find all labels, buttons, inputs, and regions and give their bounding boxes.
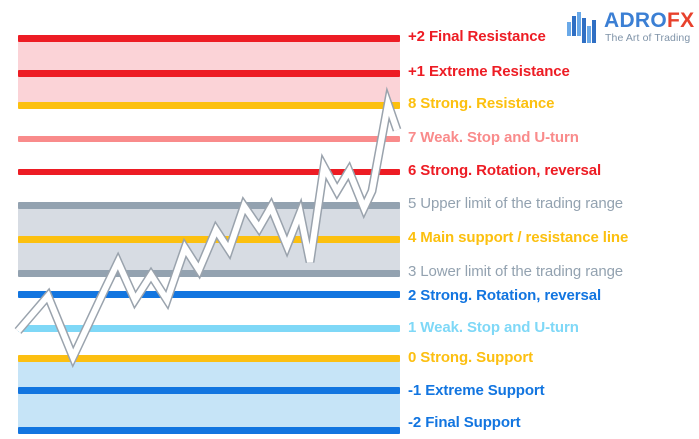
- brand-name-primary: ADRO: [604, 9, 667, 32]
- level-label-0: 0 Strong. Support: [408, 351, 533, 366]
- level-label-minus2: -2 Final Support: [408, 416, 521, 431]
- level-label-2: 2 Strong. Rotation, reversal: [408, 289, 601, 304]
- level-label-4: 4 Main support / resistance line: [408, 231, 628, 246]
- brand-name-accent: FX: [667, 9, 694, 32]
- level-label-5: 5 Upper limit of the trading range: [408, 197, 623, 212]
- level-label-plus1: +1 Extreme Resistance: [408, 65, 570, 80]
- level-label-8: 8 Strong. Resistance: [408, 97, 554, 112]
- price-zigzag: [0, 0, 420, 439]
- brand-tagline: The Art of Trading: [605, 33, 690, 44]
- level-label-6: 6 Strong. Rotation, reversal: [408, 164, 601, 179]
- level-label-3: 3 Lower limit of the trading range: [408, 265, 623, 280]
- diagram-canvas: +2 Final Resistance +1 Extreme Resistanc…: [0, 0, 699, 439]
- brand-wordmark: ADROFX: [604, 10, 694, 31]
- level-label-1: 1 Weak. Stop and U-turn: [408, 321, 579, 336]
- brand-logo: ADROFX The Art of Trading: [566, 8, 694, 48]
- level-label-plus2: +2 Final Resistance: [408, 30, 546, 45]
- candlestick-bars-icon: [566, 9, 600, 43]
- level-label-minus1: -1 Extreme Support: [408, 384, 545, 399]
- level-label-7: 7 Weak. Stop and U-turn: [408, 131, 579, 146]
